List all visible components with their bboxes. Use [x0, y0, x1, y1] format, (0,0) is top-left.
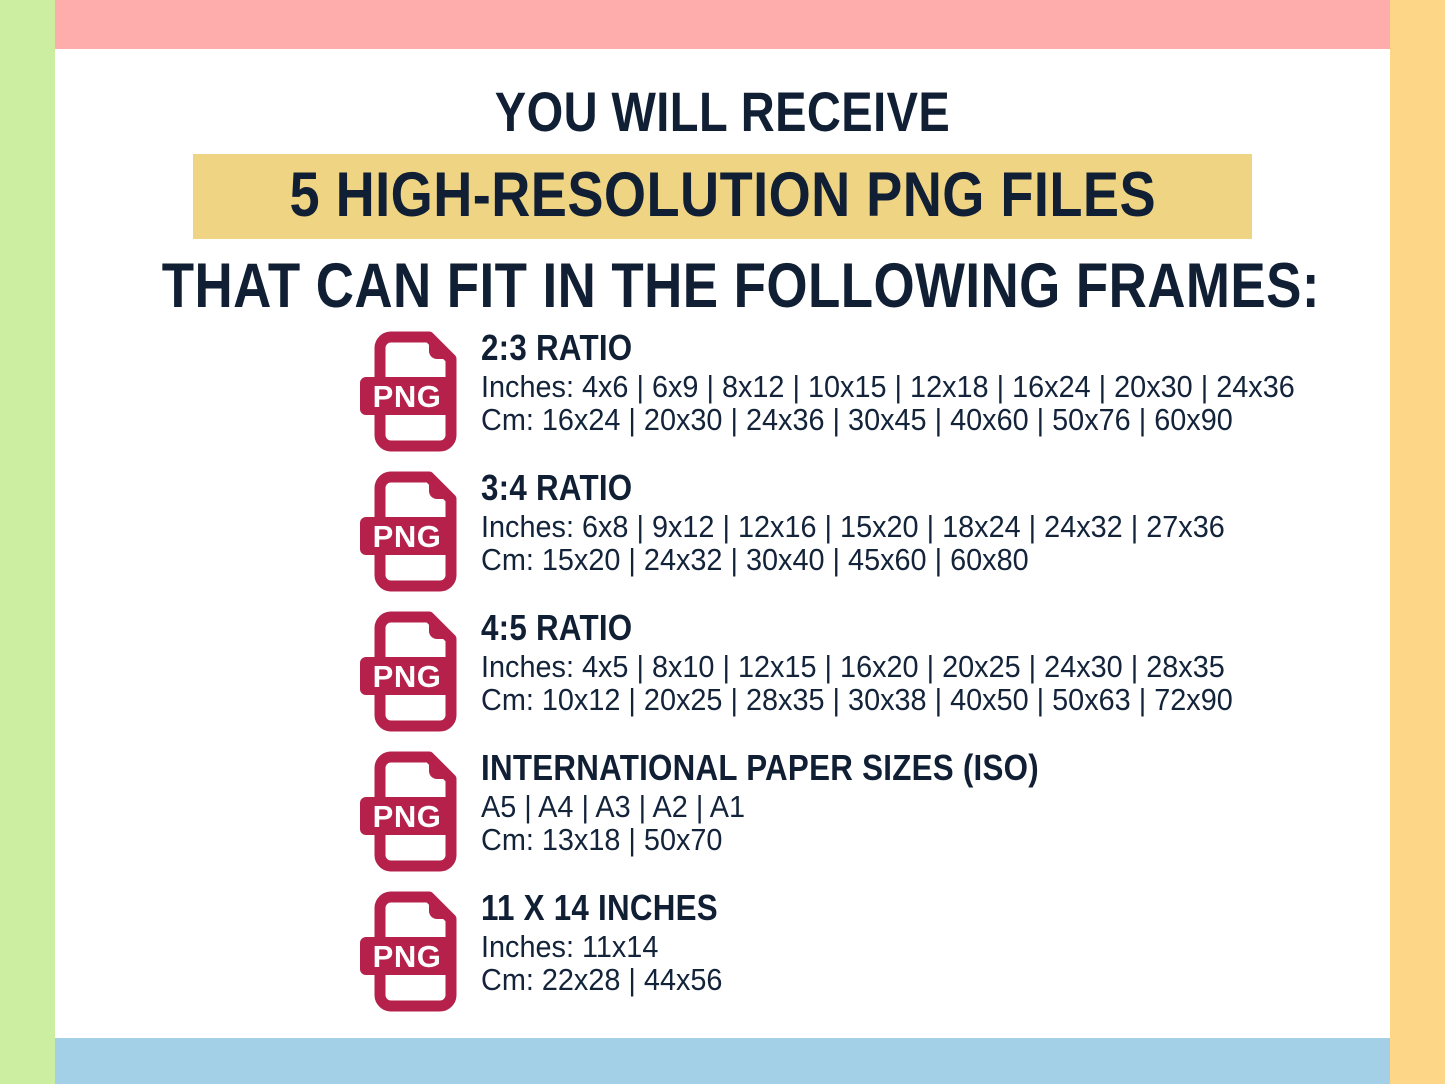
- heading-line-3: THAT CAN FIT IN THE FOLLOWING FRAMES:: [162, 255, 1283, 318]
- list-item: PNG INTERNATIONAL PAPER SIZES (ISO) A5 |…: [368, 748, 1368, 888]
- list-item-text: 11 X 14 INCHES Inches: 11x14 Cm: 22x28 |…: [481, 888, 1361, 996]
- list-item-cm: Cm: 10x12 | 20x25 | 28x35 | 30x38 | 40x5…: [481, 683, 1299, 716]
- svg-text:PNG: PNG: [373, 519, 442, 554]
- png-file-icon-svg: PNG: [368, 335, 463, 459]
- list-item-title: 2:3 RATIO: [481, 328, 1247, 368]
- png-file-icon: PNG: [368, 615, 463, 739]
- list-item-title: INTERNATIONAL PAPER SIZES (ISO): [481, 748, 1247, 788]
- list-item: PNG 4:5 RATIO Inches: 4x5 | 8x10 | 12x15…: [368, 608, 1368, 748]
- heading-line-2-text: 5 HIGH-RESOLUTION PNG FILES: [289, 164, 1156, 227]
- list-item-cm: Cm: 22x28 | 44x56: [481, 963, 1299, 996]
- svg-text:PNG: PNG: [373, 939, 442, 974]
- png-file-icon-svg: PNG: [368, 475, 463, 599]
- decorative-band-top-pink: [55, 0, 1390, 49]
- list-item-title: 4:5 RATIO: [481, 608, 1247, 648]
- list-item-cm: Cm: 13x18 | 50x70: [481, 823, 1299, 856]
- svg-text:PNG: PNG: [373, 379, 442, 414]
- list-item-text: 3:4 RATIO Inches: 6x8 | 9x12 | 12x16 | 1…: [481, 468, 1361, 576]
- list-item-cm: Cm: 15x20 | 24x32 | 30x40 | 45x60 | 60x8…: [481, 543, 1299, 576]
- png-file-icon: PNG: [368, 895, 463, 1019]
- list-item-text: INTERNATIONAL PAPER SIZES (ISO) A5 | A4 …: [481, 748, 1361, 856]
- png-file-icon: PNG: [368, 335, 463, 459]
- heading-line-2-wrapper: 5 HIGH-RESOLUTION PNG FILES: [55, 154, 1390, 239]
- svg-text:PNG: PNG: [373, 659, 442, 694]
- png-file-icon-svg: PNG: [368, 615, 463, 739]
- decorative-band-left-green: [0, 0, 55, 1084]
- white-page-area: YOU WILL RECEIVE 5 HIGH-RESOLUTION PNG F…: [55, 49, 1390, 1038]
- graphic-canvas: YOU WILL RECEIVE 5 HIGH-RESOLUTION PNG F…: [0, 0, 1445, 1084]
- list-item: PNG 2:3 RATIO Inches: 4x6 | 6x9 | 8x12 |…: [368, 328, 1368, 468]
- heading-line-2-highlight: 5 HIGH-RESOLUTION PNG FILES: [193, 154, 1253, 239]
- heading-block: YOU WILL RECEIVE 5 HIGH-RESOLUTION PNG F…: [55, 84, 1390, 318]
- list-item-cm: Cm: 16x24 | 20x30 | 24x36 | 30x45 | 40x6…: [481, 403, 1299, 436]
- list-item-inches: Inches: 6x8 | 9x12 | 12x16 | 15x20 | 18x…: [481, 510, 1299, 543]
- list-item-title: 11 X 14 INCHES: [481, 888, 1247, 928]
- frame-sizes-list: PNG 2:3 RATIO Inches: 4x6 | 6x9 | 8x12 |…: [368, 328, 1368, 1028]
- png-file-icon-svg: PNG: [368, 895, 463, 1019]
- png-file-icon-svg: PNG: [368, 755, 463, 879]
- decorative-band-right-orange: [1390, 0, 1445, 1084]
- png-file-icon: PNG: [368, 475, 463, 599]
- decorative-band-bottom-blue: [55, 1038, 1390, 1084]
- list-item-inches: Inches: 4x5 | 8x10 | 12x15 | 16x20 | 20x…: [481, 650, 1299, 683]
- list-item: PNG 11 X 14 INCHES Inches: 11x14 Cm: 22x…: [368, 888, 1368, 1028]
- list-item-text: 2:3 RATIO Inches: 4x6 | 6x9 | 8x12 | 10x…: [481, 328, 1361, 436]
- list-item-title: 3:4 RATIO: [481, 468, 1247, 508]
- list-item: PNG 3:4 RATIO Inches: 6x8 | 9x12 | 12x16…: [368, 468, 1368, 608]
- svg-text:PNG: PNG: [373, 799, 442, 834]
- heading-line-1: YOU WILL RECEIVE: [162, 84, 1283, 140]
- list-item-inches: Inches: 4x6 | 6x9 | 8x12 | 10x15 | 12x18…: [481, 370, 1299, 403]
- list-item-text: 4:5 RATIO Inches: 4x5 | 8x10 | 12x15 | 1…: [481, 608, 1361, 716]
- png-file-icon: PNG: [368, 755, 463, 879]
- list-item-inches: Inches: 11x14: [481, 930, 1299, 963]
- list-item-sizes: A5 | A4 | A3 | A2 | A1: [481, 790, 1299, 823]
